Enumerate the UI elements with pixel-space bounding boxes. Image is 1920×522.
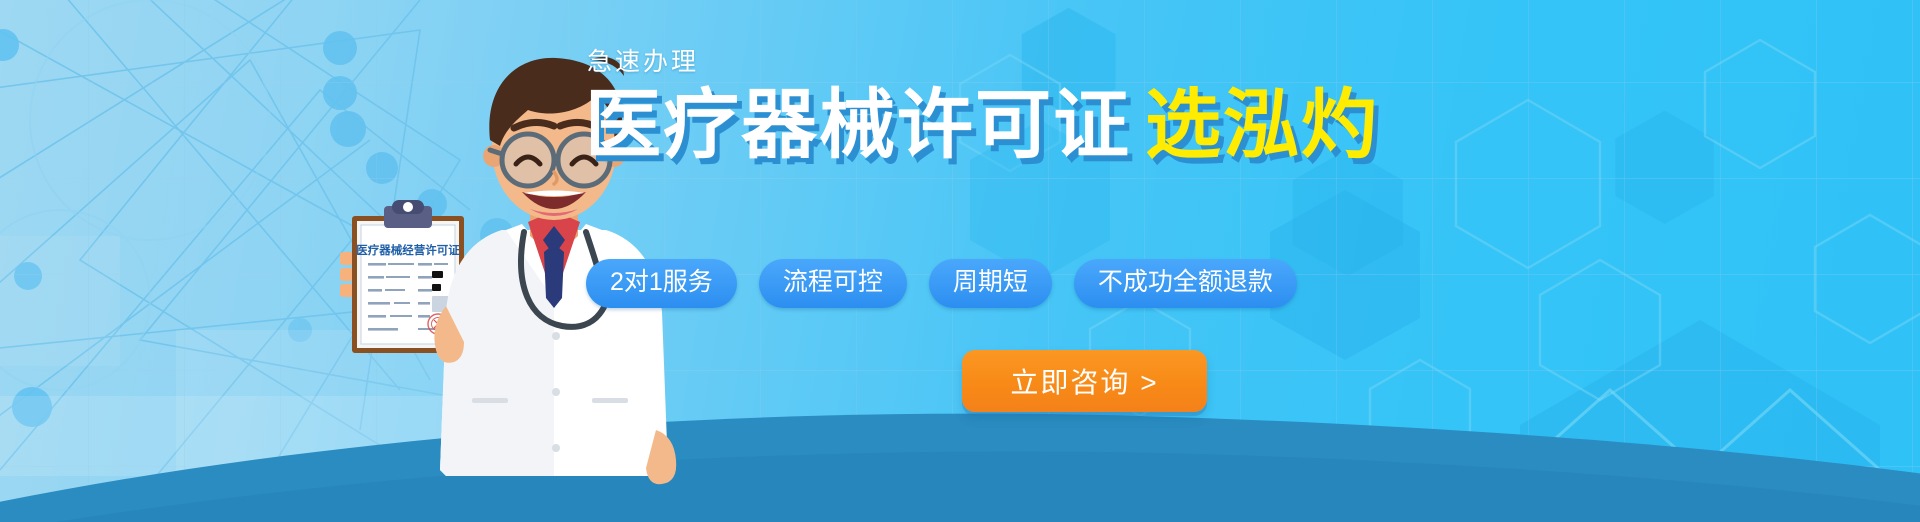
bottom-wave [0, 342, 1920, 522]
hero-text-block: 急速办理 医疗器械许可证选泓灼 [585, 42, 1345, 164]
feature-pill-3[interactable]: 周期短 [929, 259, 1052, 308]
feature-pill-1[interactable]: 2对1服务 [586, 259, 737, 308]
bg-panel [0, 236, 120, 366]
feature-pill-2[interactable]: 流程可控 [759, 259, 907, 308]
promo-banner: 医疗器械经营许可证 [0, 0, 1920, 522]
eyebrow-text: 急速办理 [587, 42, 1345, 78]
page-title: 医疗器械许可证选泓灼 [585, 88, 1345, 164]
feature-pill-list: 2对1服务 流程可控 周期短 不成功全额退款 [586, 259, 1297, 308]
consult-now-button[interactable]: 立即咨询 > [962, 350, 1207, 412]
feature-pill-4[interactable]: 不成功全额退款 [1074, 259, 1297, 308]
headline-accent: 选泓灼 [1145, 83, 1379, 168]
headline-main: 医疗器械许可证 [585, 83, 1131, 168]
